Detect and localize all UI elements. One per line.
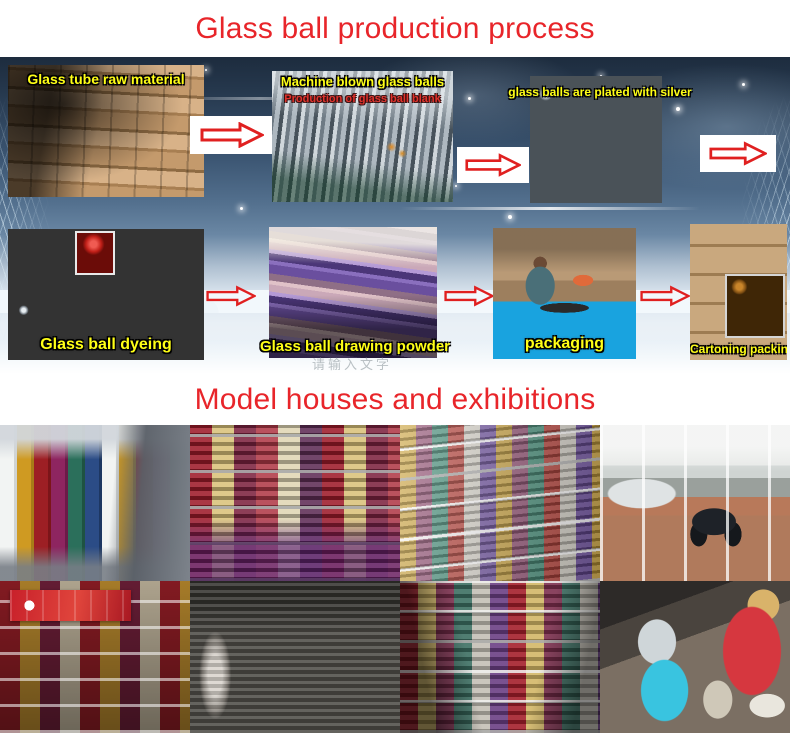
booth-red-banner (10, 590, 132, 620)
exhibitions-section-header: Model houses and exhibitions (0, 374, 790, 425)
process-arrow-3 (700, 135, 776, 172)
photo-ball-tubes (190, 581, 400, 733)
arrow-right-icon (200, 122, 264, 148)
process-step-6[interactable]: packaging (493, 228, 636, 359)
gallery-photo-8[interactable] (600, 581, 790, 733)
sparkle-icon (676, 107, 680, 111)
sparkle-icon (240, 207, 243, 210)
gallery-photo-4[interactable] (600, 425, 790, 581)
process-step-4[interactable]: Glass ball dyeing (8, 229, 204, 360)
exhibition-photo-grid (0, 425, 790, 733)
gallery-photo-3[interactable] (400, 425, 600, 581)
photo-showroom-interior (600, 425, 790, 581)
step-5-subcaption: 请输入文字 (272, 354, 432, 373)
step-7-inset-frame (725, 274, 785, 338)
gallery-photo-2[interactable] (190, 425, 400, 581)
step-4-inset-photo (77, 233, 113, 273)
gallery-photo-1[interactable] (0, 425, 190, 581)
arrow-right-icon (640, 284, 690, 308)
gallery-photo-6[interactable] (190, 581, 400, 733)
process-step-2[interactable]: Machine blown glass balls Production of … (272, 71, 453, 202)
step-1-caption: Glass tube raw material (8, 71, 204, 87)
step-2-photo (272, 71, 453, 202)
sparkle-icon (205, 69, 207, 71)
photo-corner-shelves (400, 581, 600, 733)
step-4-inset-frame (75, 231, 115, 275)
page-title-exhibitions: Model houses and exhibitions (195, 383, 596, 417)
gallery-photo-7[interactable] (400, 581, 600, 733)
process-step-1[interactable]: Glass tube raw material (8, 65, 204, 197)
process-arrow-4 (203, 279, 259, 313)
arrow-right-icon (444, 284, 494, 308)
gallery-photo-5[interactable] (0, 581, 190, 733)
page-root: Glass ball production process Glass tube… (0, 0, 790, 733)
process-step-7[interactable]: Cartoning packing (690, 224, 787, 360)
production-process-panel: Glass tube raw material Machine blown gl… (0, 57, 790, 374)
sparkle-icon (508, 215, 512, 219)
step-6-caption: packaging (493, 335, 636, 353)
photo-shelves-red-gold (190, 425, 400, 581)
photo-shelves-ornaments (400, 425, 600, 581)
arrow-right-icon (206, 284, 256, 308)
step-7-caption: Cartoning packing (690, 342, 787, 356)
photo-exhibition-visitor (600, 581, 790, 733)
step-7-inset-photo (727, 276, 783, 336)
photo-ball-wall (0, 425, 190, 581)
page-title-production: Glass ball production process (195, 12, 594, 46)
step-5-caption: Glass ball drawing powder (210, 338, 500, 355)
step-4-caption: Glass ball dyeing (8, 336, 204, 354)
process-arrow-2 (457, 147, 529, 183)
process-arrow-6 (637, 279, 693, 313)
step-2-subcaption: Production of glass ball blank (272, 93, 453, 105)
sparkle-icon (742, 83, 745, 86)
sparkle-icon (455, 185, 457, 187)
arrow-right-icon (465, 153, 521, 177)
production-section-header: Glass ball production process (0, 0, 790, 57)
light-streak (400, 207, 700, 210)
step-3-caption: glass balls are plated with silver (470, 85, 730, 99)
step-2-caption: Machine blown glass balls (272, 74, 453, 89)
arrow-right-icon (709, 141, 767, 166)
process-arrow-5 (441, 279, 497, 313)
process-arrow-1 (190, 116, 274, 154)
